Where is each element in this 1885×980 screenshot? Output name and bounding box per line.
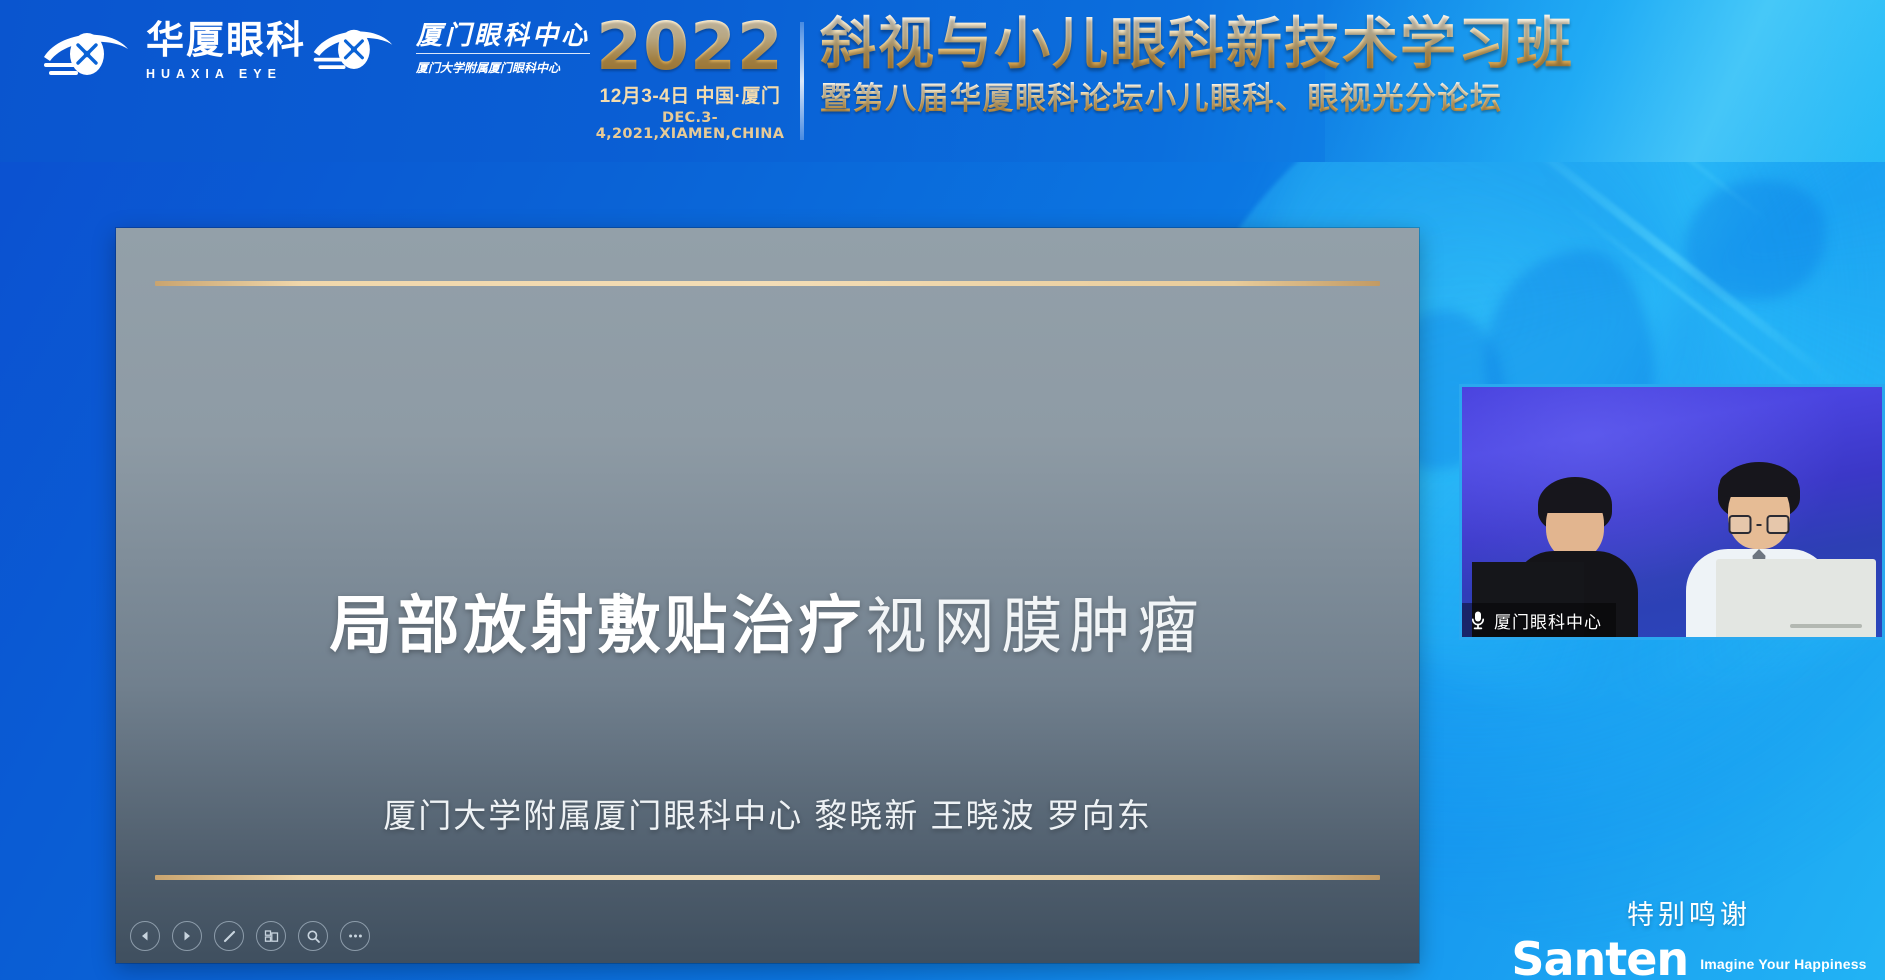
zoom-button[interactable]: [298, 921, 328, 951]
sponsor-block: 特别鸣谢 Santen Imagine Your Happiness: [1519, 893, 1859, 980]
slide-title-strong: 局部放射敷贴治疗: [329, 591, 865, 661]
triangle-left-icon: [139, 930, 151, 942]
event-title-block: 斜视与小儿眼科新技术学习班 暨第八届华厦眼科论坛小儿眼科、眼视光分论坛: [820, 14, 1574, 117]
ellipsis-icon: [348, 933, 363, 939]
logo-huaxia-cn: 华厦眼科: [146, 22, 306, 60]
event-sub-title: 暨第八届华厦眼科论坛小儿眼科、眼视光分论坛: [820, 82, 1574, 116]
magnifier-icon: [306, 929, 321, 944]
presenter-video-panel[interactable]: 厦门眼科中心: [1459, 384, 1885, 640]
slide-subtitle: 厦门大学附属厦门眼科中心 黎晓新 王晓波 罗向东: [116, 789, 1419, 837]
pen-tool-button[interactable]: [214, 921, 244, 951]
logo-xmec-sub: 厦门大学附属厦门眼科中心: [416, 53, 590, 76]
sponsor-logo: Santen Imagine Your Happiness: [1519, 938, 1859, 980]
glasses-icon: [1729, 515, 1790, 534]
sponsor-brand-name: Santen: [1511, 938, 1688, 980]
layout-icon: [264, 929, 279, 944]
logo-xiamen-eye-center: 厦门眼科中心 厦门大学附属厦门眼科中心: [310, 20, 590, 78]
slide-toolbar: [130, 921, 370, 951]
event-date-en: DEC.3-4,2021,XIAMEN,CHINA: [595, 110, 785, 142]
sponsor-tagline: Imagine Your Happiness: [1700, 956, 1866, 980]
next-slide-button[interactable]: [172, 921, 202, 951]
slide-title-light: 视网膜肿瘤: [865, 592, 1205, 660]
event-date-cn: 12月3-4日 中国·厦门: [595, 86, 785, 108]
sponsor-thanks-text: 特别鸣谢: [1519, 893, 1859, 932]
logo-xmec-cn: 厦门眼科中心: [416, 22, 590, 48]
triangle-right-icon: [181, 930, 193, 942]
eye-logo-icon: [40, 23, 132, 81]
logo-huaxia-en: HUAXIA EYE: [146, 67, 306, 81]
presenter-name-badge: 厦门眼科中心: [1462, 603, 1616, 637]
event-date-block: 2022 12月3-4日 中国·厦门 DEC.3-4,2021,XIAMEN,C…: [595, 14, 785, 142]
presentation-slide[interactable]: 局部放射敷贴治疗视网膜肿瘤 厦门大学附属厦门眼科中心 黎晓新 王晓波 罗向东: [116, 228, 1419, 963]
previous-slide-button[interactable]: [130, 921, 160, 951]
eye-logo-icon: [310, 20, 402, 78]
slide-rule-top: [155, 281, 1380, 286]
banner-divider: [800, 22, 804, 140]
event-banner: 华厦眼科 HUAXIA EYE 厦门眼科中心 厦门大学附属厦门眼科中心: [0, 0, 1885, 162]
microphone-icon: [1470, 610, 1486, 630]
slide-rule-bottom: [155, 875, 1380, 880]
event-year: 2022: [595, 14, 785, 80]
webinar-viewer: 华厦眼科 HUAXIA EYE 厦门眼科中心 厦门大学附属厦门眼科中心: [0, 0, 1885, 980]
event-main-title: 斜视与小儿眼科新技术学习班: [820, 14, 1574, 74]
pen-icon: [222, 929, 237, 944]
laptop-right: [1716, 559, 1876, 637]
presenter-name-text: 厦门眼科中心: [1494, 608, 1602, 633]
layout-button[interactable]: [256, 921, 286, 951]
more-options-button[interactable]: [340, 921, 370, 951]
slide-title: 局部放射敷贴治疗视网膜肿瘤: [116, 575, 1419, 666]
logo-huaxia-eye: 华厦眼科 HUAXIA EYE: [40, 22, 306, 81]
